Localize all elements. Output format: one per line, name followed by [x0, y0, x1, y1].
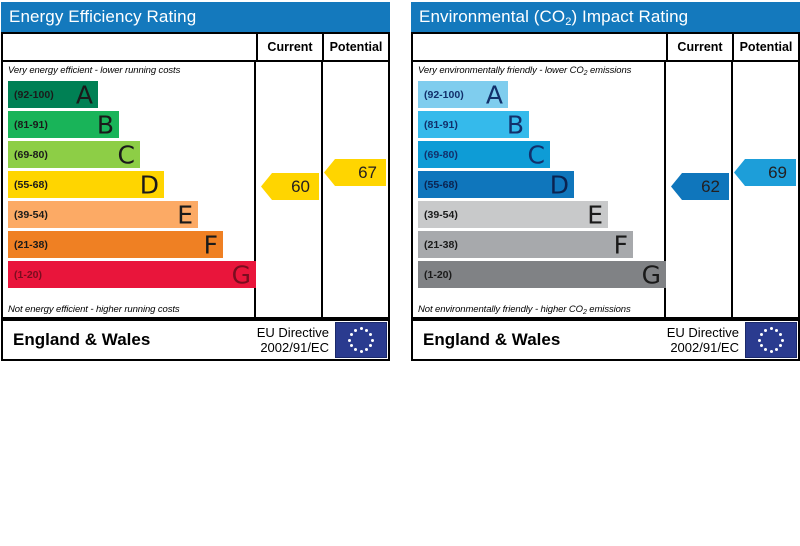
co2-bands-column: Very environmentally friendly - lower CO…	[413, 62, 666, 317]
co2-directive-line2: 2002/91/EC	[667, 340, 739, 355]
energy-band-range-a: (92-100)	[8, 89, 54, 101]
energy-band-letter-e: E	[177, 202, 193, 227]
co2-footer-directive: EU Directive 2002/91/EC	[667, 325, 745, 355]
energy-band-e: (39-54)E	[8, 201, 198, 228]
co2-band-b: (81-91)B	[418, 111, 529, 138]
energy-top-note: Very energy efficient - lower running co…	[3, 62, 254, 76]
energy-body-row: Very energy efficient - lower running co…	[3, 62, 388, 319]
co2-band-range-c: (69-80)	[418, 149, 458, 161]
eu-flag-star	[764, 329, 767, 332]
chart-title-co2-subscript: 2	[565, 16, 571, 28]
co2-band-c: (69-80)C	[418, 141, 550, 168]
co2-band-letter-b: B	[507, 112, 524, 137]
eu-flag-star	[350, 333, 353, 336]
chart-title-co2: Environmental (CO2) Impact Rating	[411, 2, 800, 32]
energy-band-range-d: (55-68)	[8, 179, 48, 191]
co2-directive-line1: EU Directive	[667, 325, 739, 340]
eu-flag-star	[369, 344, 372, 347]
co2-band-list: (92-100)A(81-91)B(69-80)C(55-68)D(39-54)…	[418, 81, 664, 291]
eu-flag-star	[348, 339, 351, 342]
energy-band-letter-f: F	[204, 232, 218, 257]
co2-bottom-note: Not environmentally friendly - higher CO…	[413, 301, 631, 315]
co2-band-range-e: (39-54)	[418, 209, 458, 221]
energy-band-b: (81-91)B	[8, 111, 119, 138]
eu-flag-star	[365, 348, 368, 351]
chart-title-energy-text: Energy Efficiency Rating	[9, 7, 196, 26]
co2-band-letter-a: A	[486, 82, 503, 107]
eu-flag-star	[770, 327, 773, 330]
energy-current-rating-marker: 60	[261, 173, 319, 200]
energy-efficiency-rating-chart: Energy Efficiency Rating Current Potenti…	[1, 2, 390, 361]
eu-flag-star	[760, 333, 763, 336]
energy-potential-rating-marker: 67	[324, 159, 386, 186]
eu-flag-star	[371, 339, 374, 342]
eu-flag-star	[369, 333, 372, 336]
energy-band-range-f: (21-38)	[8, 239, 48, 251]
co2-band-e: (39-54)E	[418, 201, 608, 228]
co2-footer-region: England & Wales	[413, 330, 667, 350]
energy-band-a: (92-100)A	[8, 81, 98, 108]
co2-top-note-suffix: emissions	[587, 65, 631, 76]
energy-band-g: (1-20)G	[8, 261, 256, 288]
co2-band-range-f: (21-38)	[418, 239, 458, 251]
energy-band-range-e: (39-54)	[8, 209, 48, 221]
co2-band-letter-f: F	[614, 232, 628, 257]
energy-current-column: 60	[256, 62, 321, 317]
energy-header-spacer	[3, 34, 258, 60]
energy-band-letter-a: A	[76, 82, 93, 107]
co2-band-letter-d: D	[550, 172, 569, 197]
co2-top-note-prefix: Very environmentally friendly - lower CO	[418, 65, 584, 76]
eu-flag-star	[354, 329, 357, 332]
chart-title-co2-suffix: ) Impact Rating	[571, 7, 688, 26]
co2-band-letter-e: E	[587, 202, 603, 227]
co2-band-range-g: (1-20)	[418, 269, 452, 281]
eu-flag-star	[779, 333, 782, 336]
energy-directive-line1: EU Directive	[257, 325, 329, 340]
energy-band-letter-c: C	[118, 142, 135, 167]
energy-potential-column: 67	[321, 62, 388, 317]
eu-flag-star	[354, 348, 357, 351]
co2-current-column: 62	[666, 62, 731, 317]
energy-band-c: (69-80)C	[8, 141, 140, 168]
co2-header-spacer	[413, 34, 668, 60]
energy-band-letter-g: G	[232, 262, 251, 287]
energy-band-letter-d: D	[140, 172, 159, 197]
energy-band-f: (21-38)F	[8, 231, 223, 258]
co2-band-g: (1-20)G	[418, 261, 666, 288]
energy-footer-region: England & Wales	[3, 330, 257, 350]
eu-flag-star	[781, 339, 784, 342]
co2-band-range-d: (55-68)	[418, 179, 458, 191]
eu-flag-star	[775, 348, 778, 351]
co2-footer: England & Wales EU Directive 2002/91/EC	[411, 321, 800, 361]
eu-flag-icon	[745, 322, 797, 358]
co2-top-note-sub: 2	[584, 70, 588, 77]
eu-flag-icon	[335, 322, 387, 358]
co2-band-f: (21-38)F	[418, 231, 633, 258]
co2-current-rating-marker: 62	[671, 173, 729, 200]
energy-bands-column: Very energy efficient - lower running co…	[3, 62, 256, 317]
energy-band-range-b: (81-91)	[8, 119, 48, 131]
energy-bottom-note: Not energy efficient - higher running co…	[3, 301, 180, 315]
eu-flag-star	[770, 350, 773, 353]
co2-potential-rating-marker: 69	[734, 159, 796, 186]
co2-band-range-b: (81-91)	[418, 119, 458, 131]
energy-footer: England & Wales EU Directive 2002/91/EC	[1, 321, 390, 361]
co2-band-a: (92-100)A	[418, 81, 508, 108]
eu-flag-star	[764, 348, 767, 351]
co2-band-range-a: (92-100)	[418, 89, 464, 101]
co2-band-d: (55-68)D	[418, 171, 574, 198]
energy-band-range-c: (69-80)	[8, 149, 48, 161]
eu-flag-star	[775, 329, 778, 332]
energy-band-d: (55-68)D	[8, 171, 164, 198]
energy-header-potential: Potential	[322, 34, 388, 60]
eu-flag-star	[760, 344, 763, 347]
energy-footer-directive: EU Directive 2002/91/EC	[257, 325, 335, 355]
eu-flag-star	[350, 344, 353, 347]
energy-band-range-g: (1-20)	[8, 269, 42, 281]
co2-potential-column: 69	[731, 62, 798, 317]
co2-bottom-note-prefix: Not environmentally friendly - higher CO	[418, 304, 583, 315]
eu-flag-star	[779, 344, 782, 347]
co2-band-letter-c: C	[528, 142, 545, 167]
co2-band-letter-g: G	[642, 262, 661, 287]
co2-column-header-row: Current Potential	[413, 34, 798, 62]
epc-charts-page: Energy Efficiency Rating Current Potenti…	[0, 0, 800, 546]
energy-column-header-row: Current Potential	[3, 34, 388, 62]
eu-flag-star	[758, 339, 761, 342]
co2-bottom-note-sub: 2	[583, 309, 587, 316]
eu-flag-star	[360, 327, 363, 330]
chart-title-co2-prefix: Environmental (CO	[419, 7, 565, 26]
chart-title-energy: Energy Efficiency Rating	[1, 2, 390, 32]
co2-header-potential: Potential	[732, 34, 798, 60]
energy-band-letter-b: B	[97, 112, 114, 137]
energy-chart-frame: Current Potential Very energy efficient …	[1, 32, 390, 321]
co2-body-row: Very environmentally friendly - lower CO…	[413, 62, 798, 319]
eu-flag-star	[365, 329, 368, 332]
co2-top-note: Very environmentally friendly - lower CO…	[413, 62, 664, 76]
energy-band-list: (92-100)A(81-91)B(69-80)C(55-68)D(39-54)…	[8, 81, 254, 291]
environmental-co2-impact-rating-chart: Environmental (CO2) Impact Rating Curren…	[411, 2, 800, 361]
co2-bottom-note-suffix: emissions	[587, 304, 631, 315]
co2-chart-frame: Current Potential Very environmentally f…	[411, 32, 800, 321]
energy-directive-line2: 2002/91/EC	[257, 340, 329, 355]
eu-flag-star	[360, 350, 363, 353]
energy-header-current: Current	[258, 34, 322, 60]
co2-header-current: Current	[668, 34, 732, 60]
